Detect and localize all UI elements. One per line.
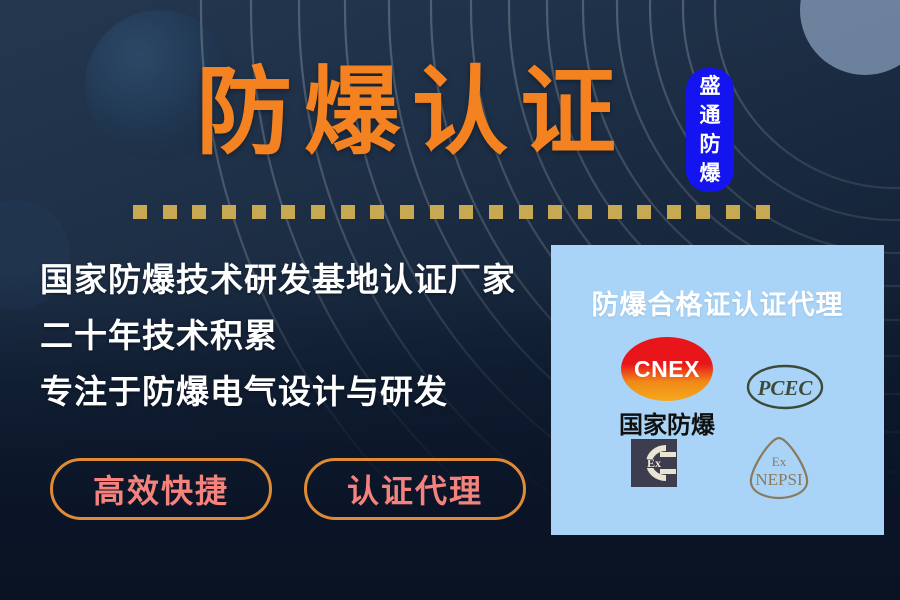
divider-dash bbox=[163, 205, 177, 219]
divider-dash bbox=[756, 205, 770, 219]
feature-pills: 高效快捷 认证代理 bbox=[50, 458, 526, 520]
cnex-logo-caption: 国家防爆 bbox=[607, 405, 727, 440]
divider-dash bbox=[430, 205, 444, 219]
divider-dash bbox=[637, 205, 651, 219]
brand-badge-char-2: 通 bbox=[686, 101, 734, 130]
ex-mark-logo-text: Ex bbox=[647, 456, 661, 470]
divider-dash bbox=[311, 205, 325, 219]
cnex-logo: CNEX bbox=[621, 337, 713, 401]
divider-dash bbox=[400, 205, 414, 219]
divider-dash bbox=[222, 205, 236, 219]
dashed-divider bbox=[133, 205, 770, 219]
divider-dash bbox=[370, 205, 384, 219]
pill-efficient-fast[interactable]: 高效快捷 bbox=[50, 458, 272, 520]
divider-dash bbox=[459, 205, 473, 219]
pill-certification-agency[interactable]: 认证代理 bbox=[304, 458, 526, 520]
panel-title: 防爆合格证认证代理 bbox=[551, 283, 884, 322]
brand-badge: 盛 通 防 爆 bbox=[686, 68, 734, 192]
divider-dash bbox=[341, 205, 355, 219]
divider-dash bbox=[519, 205, 533, 219]
divider-dash bbox=[281, 205, 295, 219]
divider-dash bbox=[252, 205, 266, 219]
nepsi-logo-text-bottom: NEPSI bbox=[755, 470, 803, 489]
divider-dash bbox=[667, 205, 681, 219]
certification-panel: 防爆合格证认证代理 CNEX 国家防爆 PCEC Ex Ex NEPSI bbox=[551, 245, 884, 535]
divider-dash bbox=[192, 205, 206, 219]
divider-dash bbox=[133, 205, 147, 219]
selling-point-1: 国家防爆技术研发基地认证厂家 bbox=[40, 252, 560, 308]
selling-points: 国家防爆技术研发基地认证厂家 二十年技术积累 专注于防爆电气设计与研发 bbox=[40, 252, 560, 420]
selling-point-2: 二十年技术积累 bbox=[40, 308, 560, 364]
divider-dash bbox=[548, 205, 562, 219]
poster-banner: 防爆认证 盛 通 防 爆 国家防爆技术研发基地认证厂家 二十年技术积累 专注于防… bbox=[0, 0, 900, 600]
page-title: 防爆认证 bbox=[196, 64, 628, 160]
brand-badge-char-4: 爆 bbox=[686, 159, 734, 188]
pcec-logo-text: PCEC bbox=[757, 376, 814, 400]
divider-dash bbox=[726, 205, 740, 219]
nepsi-logo: Ex NEPSI bbox=[743, 433, 815, 503]
nepsi-logo-text-top: Ex bbox=[772, 454, 787, 469]
ex-mark-logo: Ex bbox=[630, 438, 678, 488]
pcec-logo: PCEC bbox=[745, 363, 825, 411]
brand-badge-char-1: 盛 bbox=[686, 72, 734, 101]
divider-dash bbox=[696, 205, 710, 219]
selling-point-3: 专注于防爆电气设计与研发 bbox=[40, 364, 560, 420]
brand-badge-char-3: 防 bbox=[686, 130, 734, 159]
divider-dash bbox=[578, 205, 592, 219]
cnex-logo-text: CNEX bbox=[634, 356, 700, 383]
divider-dash bbox=[608, 205, 622, 219]
divider-dash bbox=[489, 205, 503, 219]
